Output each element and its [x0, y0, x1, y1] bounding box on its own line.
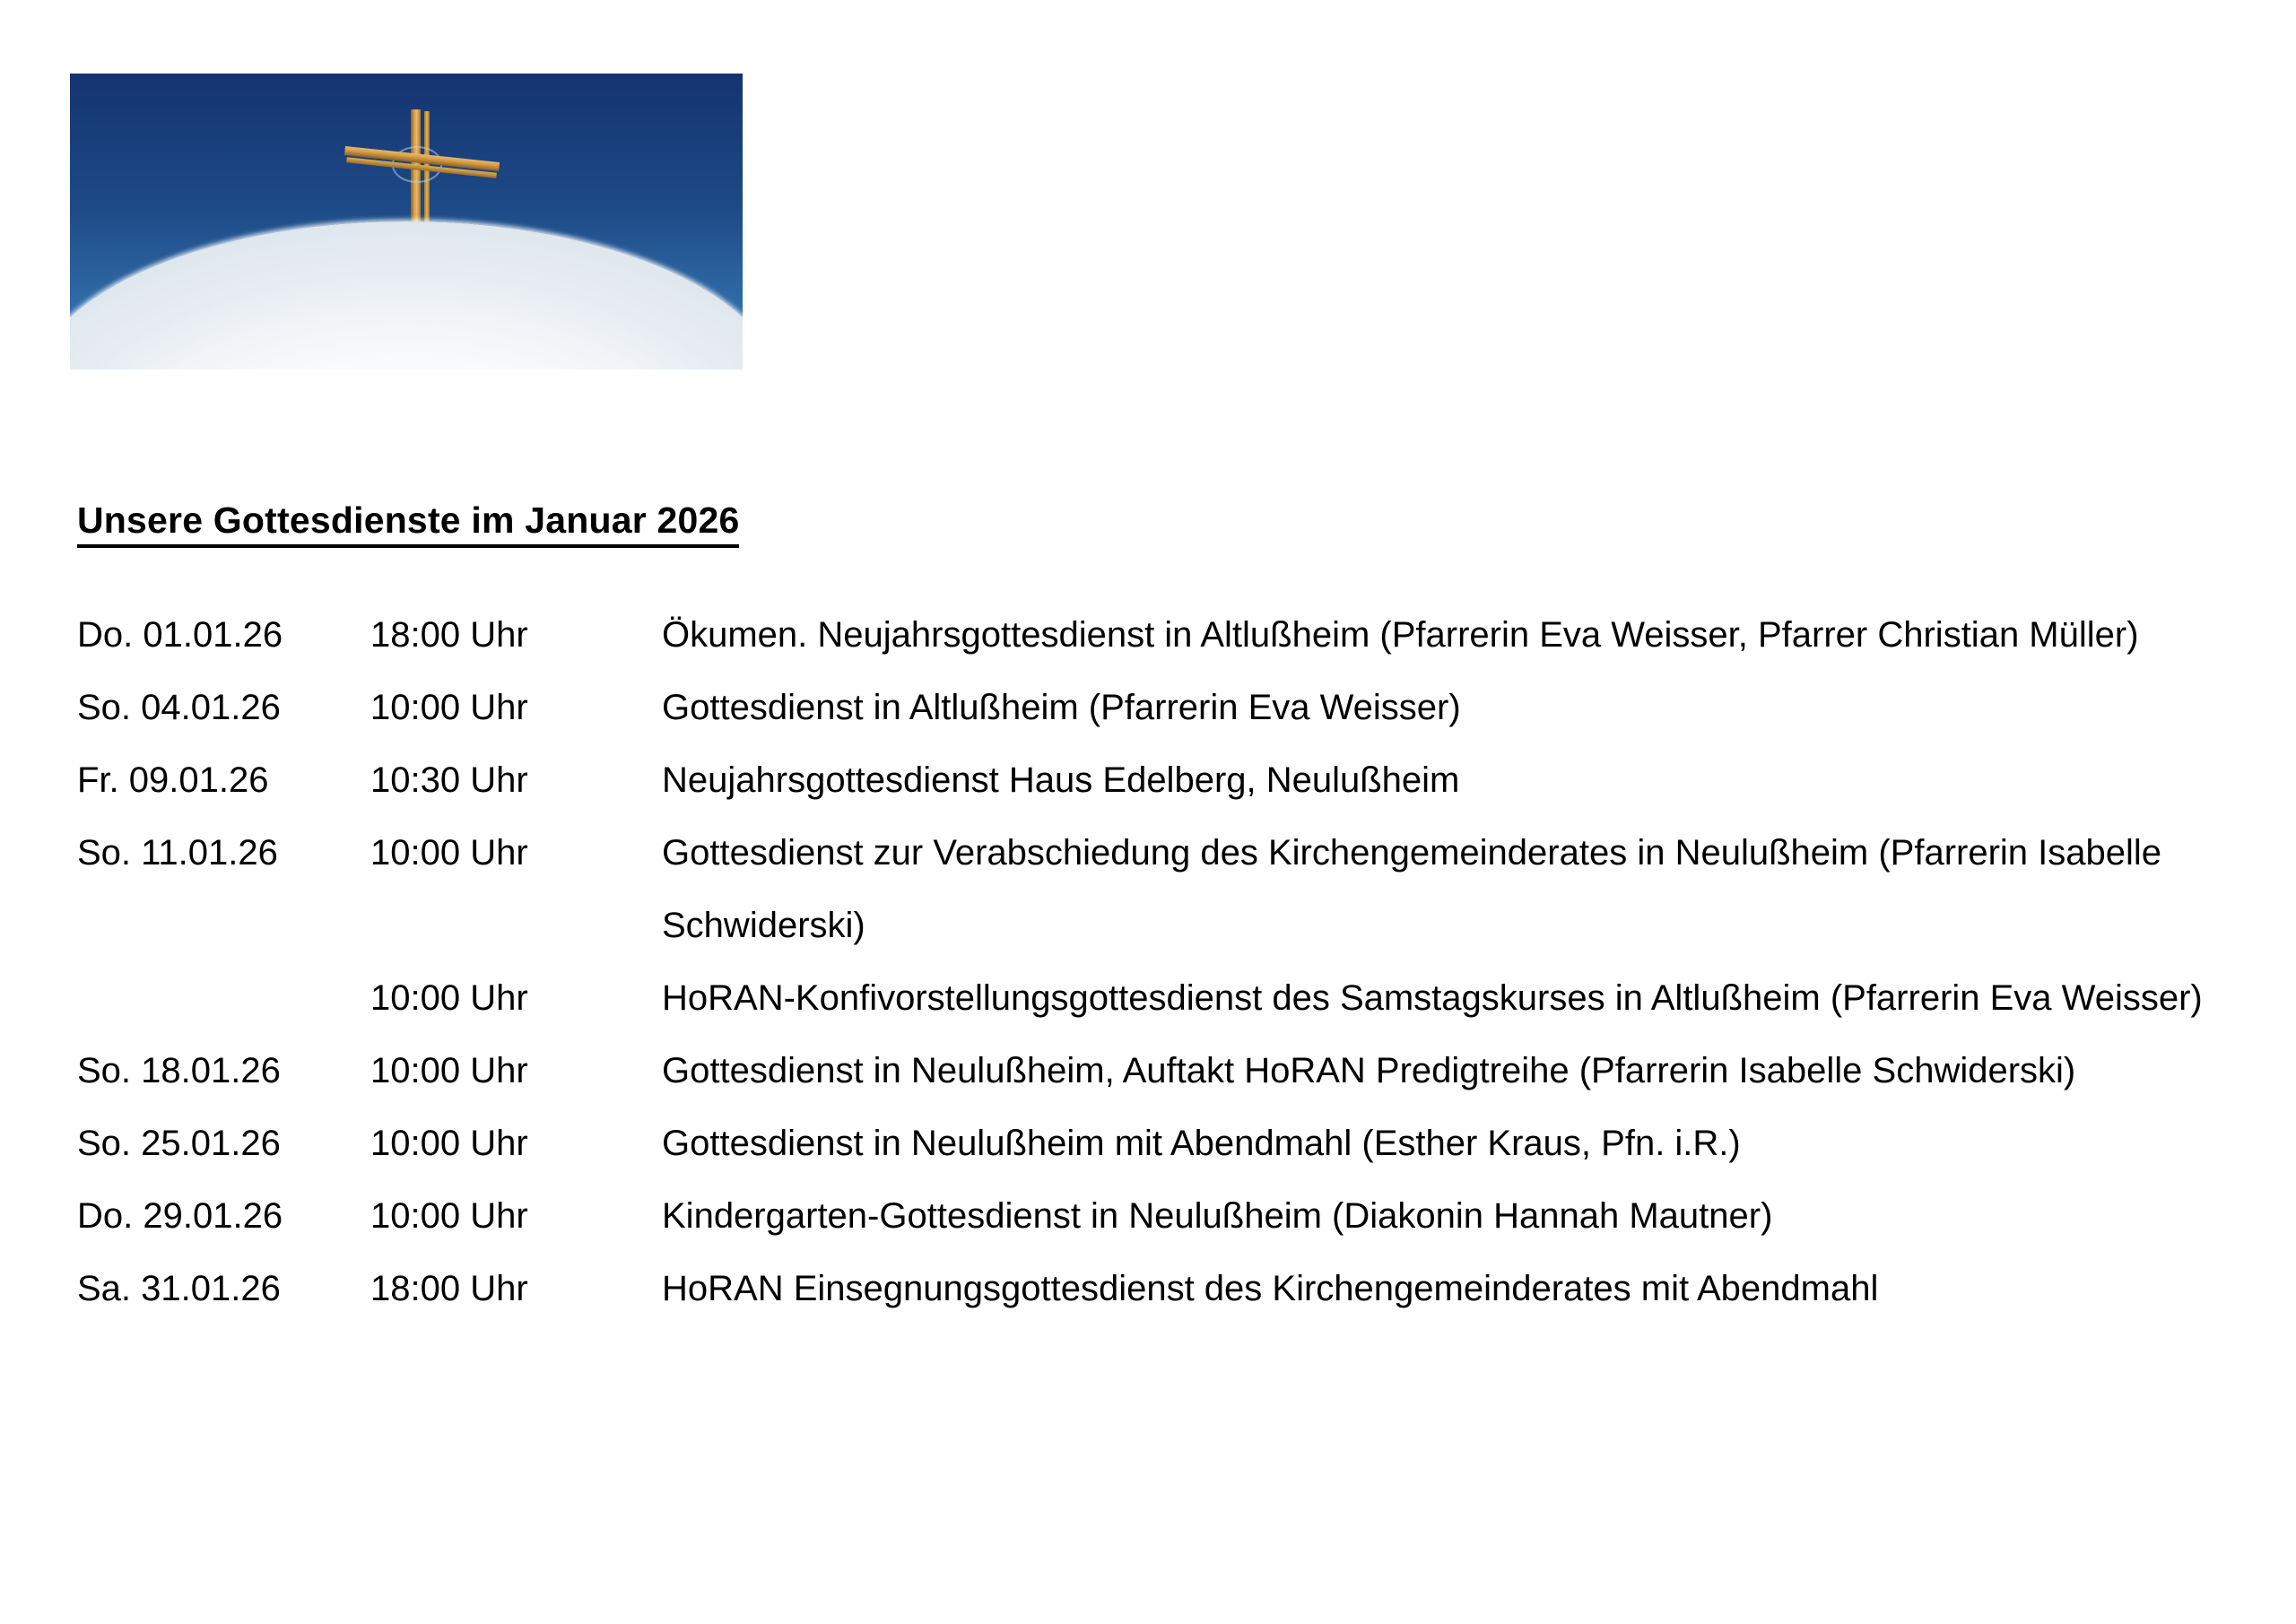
summit-cross-photo: [70, 74, 743, 369]
service-row: So. 25.01.26 10:00 Uhr Gottesdienst in N…: [77, 1107, 2230, 1180]
service-description: HoRAN-Konfivorstellungsgottesdienst des …: [662, 962, 2205, 1035]
service-time: 10:00 Uhr: [370, 672, 662, 744]
service-time: 10:00 Uhr: [370, 1107, 662, 1180]
service-description: HoRAN Einsegnungsgottesdienst des Kirche…: [662, 1253, 2205, 1325]
document-page: Unsere Gottesdienste im Januar 2026 Do. …: [0, 0, 2296, 1624]
service-description: Gottesdienst in Neulußheim, Auftakt HoRA…: [662, 1035, 2205, 1107]
service-description: Gottesdienst in Neulußheim mit Abendmahl…: [662, 1107, 2205, 1180]
header-photo: [70, 74, 743, 369]
service-description: Gottesdienst in Altlußheim (Pfarrerin Ev…: [662, 672, 2205, 744]
service-row: Fr. 09.01.26 10:30 Uhr Neujahrsgottesdie…: [77, 744, 2230, 817]
service-description: Neujahrsgottesdienst Haus Edelberg, Neul…: [662, 744, 2205, 817]
service-row: Sa. 31.01.26 18:00 Uhr HoRAN Einsegnungs…: [77, 1253, 2230, 1325]
service-description: Kindergarten-Gottesdienst in Neulußheim …: [662, 1180, 2205, 1253]
service-date: So. 04.01.26: [77, 672, 370, 744]
service-date: Sa. 31.01.26: [77, 1253, 370, 1325]
service-description: Ökumen. Neujahrsgottesdienst in Altlußhe…: [662, 599, 2205, 672]
snow-mound: [70, 221, 743, 369]
service-time: 10:00 Uhr: [370, 1035, 662, 1107]
service-time: 10:00 Uhr: [370, 962, 662, 1035]
service-time: 10:30 Uhr: [370, 744, 662, 817]
service-description: Gottesdienst zur Verabschiedung des Kirc…: [662, 817, 2205, 962]
service-time: 10:00 Uhr: [370, 817, 662, 890]
service-time: 18:00 Uhr: [370, 1253, 662, 1325]
service-date: Fr. 09.01.26: [77, 744, 370, 817]
service-row: Do. 01.01.26 18:00 Uhr Ökumen. Neujahrsg…: [77, 599, 2230, 672]
page-title: Unsere Gottesdienste im Januar 2026: [77, 499, 739, 548]
service-time: 10:00 Uhr: [370, 1180, 662, 1253]
service-date: So. 25.01.26: [77, 1107, 370, 1180]
service-row: 10:00 Uhr HoRAN-Konfivorstellungsgottesd…: [77, 962, 2230, 1035]
service-row: So. 18.01.26 10:00 Uhr Gottesdienst in N…: [77, 1035, 2230, 1107]
service-date: So. 18.01.26: [77, 1035, 370, 1107]
service-row: So. 11.01.26 10:00 Uhr Gottesdienst zur …: [77, 817, 2230, 962]
service-date: Do. 29.01.26: [77, 1180, 370, 1253]
service-schedule: Do. 01.01.26 18:00 Uhr Ökumen. Neujahrsg…: [77, 599, 2230, 1325]
service-row: So. 04.01.26 10:00 Uhr Gottesdienst in A…: [77, 672, 2230, 744]
service-time: 18:00 Uhr: [370, 599, 662, 672]
service-row: Do. 29.01.26 10:00 Uhr Kindergarten-Gott…: [77, 1180, 2230, 1253]
service-date: So. 11.01.26: [77, 817, 370, 890]
service-date: Do. 01.01.26: [77, 599, 370, 672]
